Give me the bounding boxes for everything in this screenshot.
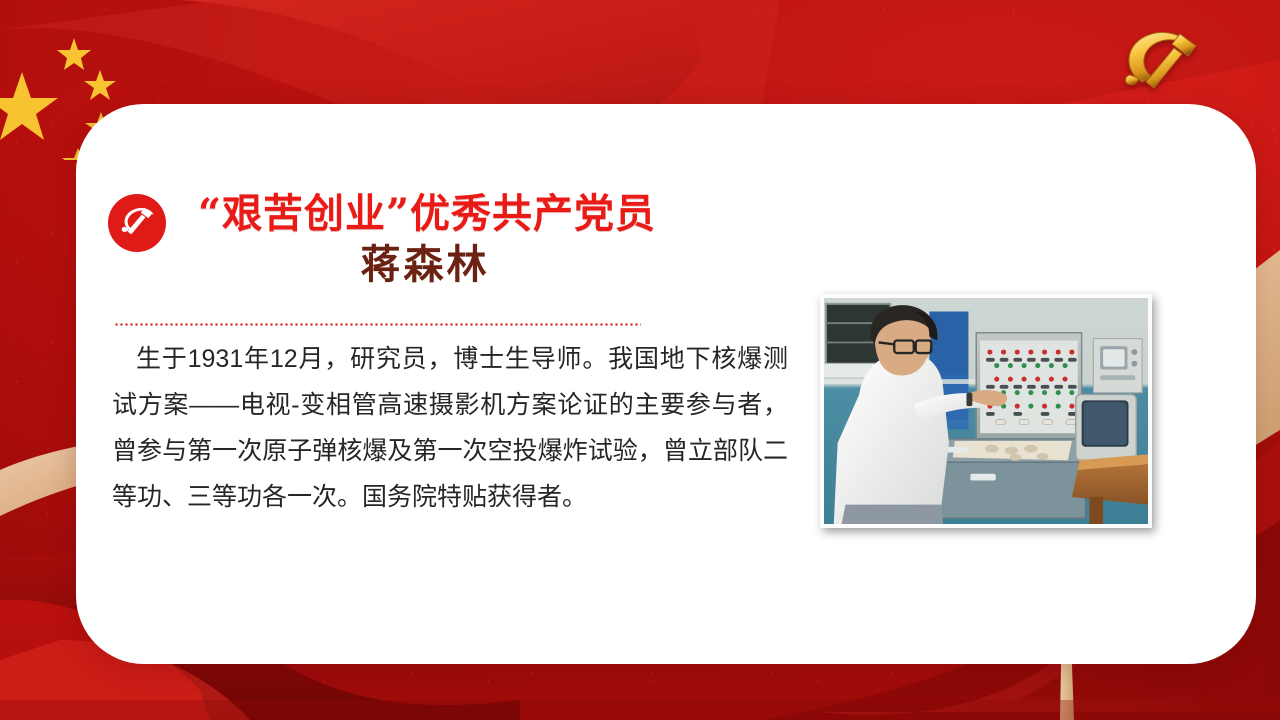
party-emblem-hammer-sickle-circle-icon — [108, 194, 166, 252]
title-group: “艰苦创业”优秀共产党员 蒋森林 — [198, 192, 704, 289]
party-emblem-hammer-sickle-gold-icon — [1108, 22, 1218, 104]
portrait-photo-frame — [820, 294, 1152, 528]
header-block: “艰苦创业”优秀共产党员 蒋森林 — [108, 192, 704, 289]
slide-root: “艰苦创业”优秀共产党员 蒋森林 生于1931年12月，研究员，博士生导师。我国… — [0, 0, 1280, 720]
content-card: “艰苦创业”优秀共产党员 蒋森林 生于1931年12月，研究员，博士生导师。我国… — [76, 104, 1256, 664]
page-title-line2: 蒋森林 — [198, 241, 704, 289]
dotted-divider — [114, 323, 641, 326]
biography-paragraph: 生于1931年12月，研究员，博士生导师。我国地下核爆测试方案——电视-变相管高… — [112, 336, 788, 520]
portrait-photo-control-panel — [824, 298, 1148, 524]
page-title-line1: “艰苦创业”优秀共产党员 — [198, 192, 704, 237]
